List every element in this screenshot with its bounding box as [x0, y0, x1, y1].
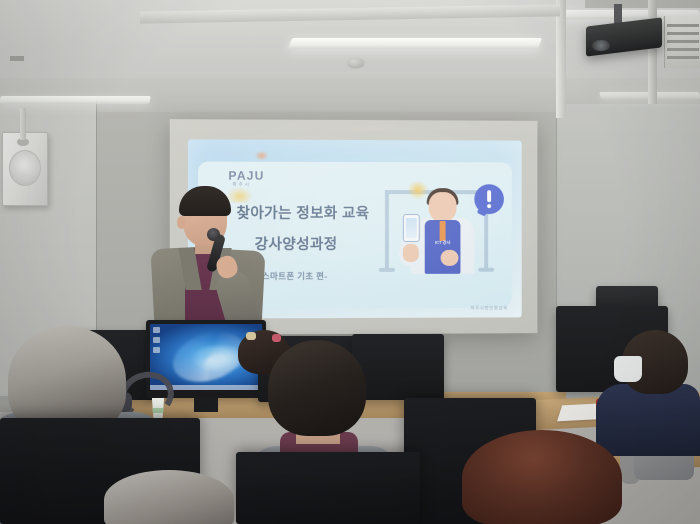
illustration-hand: [441, 250, 459, 266]
ceiling-light-fixture: [288, 38, 542, 49]
illustration-vest-text: ICT 강사: [427, 240, 459, 246]
ceiling-rail: [585, 0, 700, 8]
attendee-curly-hair-head: [462, 430, 622, 524]
attendee-gray-hair-front-head: [104, 470, 234, 524]
projector-lens-icon: [592, 40, 610, 51]
speech-bubble-icon: [474, 184, 504, 214]
speaker-badge: [10, 56, 24, 61]
speaker-cone-icon: [9, 150, 41, 186]
ceiling-rail: [556, 0, 566, 118]
hair-clip-icon: [272, 334, 281, 342]
illustration-necktie: [440, 221, 446, 241]
exclamation-mark-icon: [487, 190, 491, 202]
illustration-head: [429, 192, 457, 222]
slide-footer-text: 파주시정보화교육: [470, 305, 507, 311]
foreground-monitor: [236, 452, 420, 524]
ceiling-rail: [648, 0, 657, 104]
attendee-masked-right-body: [596, 384, 700, 456]
presenter-ear: [177, 216, 186, 229]
desktop-icons: [153, 327, 162, 357]
smartphone-icon: [403, 214, 420, 242]
sparkle-icon: [407, 180, 429, 200]
slide-illustration: ICT 강사: [379, 168, 510, 286]
slide-logo-paju: PAJU: [228, 169, 264, 183]
exclamation-dot-icon: [487, 204, 491, 208]
illustration-frame-foot: [379, 268, 395, 272]
slide-decoration-orange: [255, 151, 269, 161]
air-vent: [664, 16, 700, 68]
monitor-stand: [194, 398, 218, 412]
speaker-bracket: [20, 108, 26, 140]
illustration-hand: [403, 244, 419, 262]
presenter-hair: [179, 186, 231, 216]
face-mask-icon: [614, 356, 642, 382]
smoke-detector-icon: [348, 58, 364, 67]
classroom-photo: PAJU 파주시 찾아가는 정보화 교육 강사양성과정 -스마트폰 기초 편-: [0, 0, 700, 524]
slide-title-line-2: 강사양성과정: [255, 233, 338, 254]
ceiling-light-fixture: [0, 96, 151, 104]
illustration-frame-post: [385, 190, 389, 270]
hair-clip-icon: [246, 332, 256, 340]
slide-subtitle: -스마트폰 기초 편-: [259, 270, 328, 282]
attendee-dark-hair-head: [268, 340, 366, 436]
illustration-frame-foot: [478, 268, 494, 272]
